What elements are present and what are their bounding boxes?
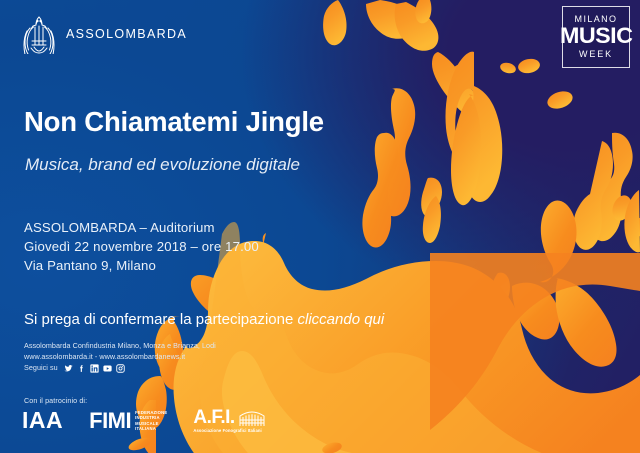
afi-row: A.F.I.: [193, 408, 264, 427]
venue-name: ASSOLOMBARDA – Auditorium: [24, 218, 259, 237]
facebook-icon[interactable]: [77, 364, 86, 373]
patronage-label: Con il patrocinio di:: [24, 396, 87, 405]
assolombarda-brand: ASSOLOMBARDA: [22, 14, 187, 54]
splash-droplets-right-mid: [573, 133, 640, 253]
fimi-logo: FIMI FEDERAZIONE INDUSTRIA MUSICALE ITAL…: [89, 410, 167, 432]
patronage-logos: IAA FIMI FEDERAZIONE INDUSTRIA MUSICALE …: [22, 408, 265, 433]
splash-small-flecks: [339, 178, 512, 368]
assolombarda-wordmark: ASSOLOMBARDA: [66, 27, 187, 41]
fimi-sub-4: ITALIANA: [135, 426, 167, 431]
follow-label: Seguici su: [24, 363, 58, 374]
linkedin-icon[interactable]: [90, 364, 99, 373]
event-details: ASSOLOMBARDA – Auditorium Giovedì 22 nov…: [24, 218, 259, 275]
mmw-line-week: WEEK: [579, 50, 613, 59]
fimi-subtitle: FEDERAZIONE INDUSTRIA MUSICALE ITALIANA: [135, 410, 167, 431]
afi-logo: A.F.I. Associazione Fonografici Italiani: [193, 408, 264, 433]
mmw-line-music: MUSIC: [560, 25, 632, 47]
milano-music-week-badge: MILANO MUSIC WEEK: [562, 6, 630, 68]
venue-address: Via Pantano 9, Milano: [24, 256, 259, 275]
afi-subtitle: Associazione Fonografici Italiani: [193, 428, 261, 433]
org-websites[interactable]: www.assolombarda.it - www.assolombardane…: [24, 352, 216, 363]
rsvp-link[interactable]: cliccando qui: [298, 311, 385, 328]
twitter-icon[interactable]: [64, 364, 73, 373]
org-legal-name: Assolombarda Confindustria Milano, Monza…: [24, 341, 216, 352]
instagram-icon[interactable]: [116, 364, 125, 373]
event-datetime: Giovedì 22 novembre 2018 – ore 17.00: [24, 237, 259, 256]
event-subtitle: Musica, brand ed evoluzione digitale: [25, 155, 300, 175]
event-invitation-poster: ASSOLOMBARDA MILANO MUSIC WEEK Non Chiam…: [0, 0, 640, 453]
social-follow-row: Seguici su: [24, 363, 216, 374]
afi-emblem-icon: [239, 409, 265, 427]
rsvp-line: Si prega di confermare la partecipazione…: [24, 311, 384, 328]
splash-droplet-left-mid: [362, 88, 415, 247]
assolombarda-eagle-icon: [22, 14, 56, 54]
organization-fineprint: Assolombarda Confindustria Milano, Monza…: [24, 341, 216, 374]
youtube-icon[interactable]: [103, 364, 112, 373]
iaa-logo: IAA: [22, 409, 63, 432]
afi-wordmark: A.F.I.: [193, 408, 234, 427]
event-title: Non Chiamatemi Jingle: [24, 106, 324, 138]
rsvp-text: Si prega di confermare la partecipazione: [24, 311, 298, 328]
fimi-wordmark: FIMI: [89, 410, 131, 432]
